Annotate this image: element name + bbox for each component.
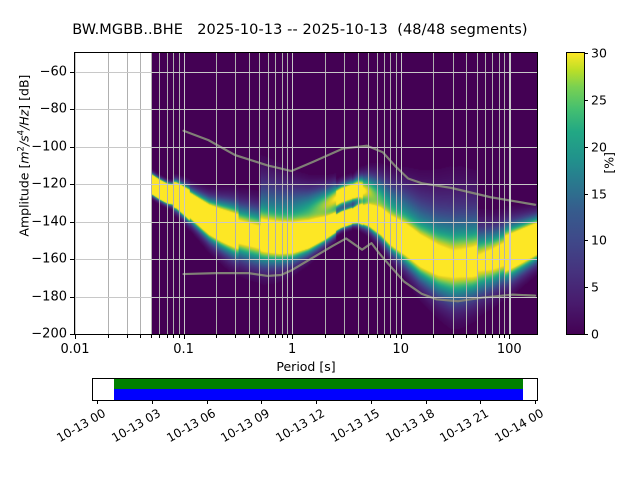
- horizontal-gridline: [75, 109, 537, 110]
- vertical-gridline: [259, 53, 260, 334]
- vertical-gridline: [344, 53, 345, 334]
- y-tick: [70, 109, 75, 110]
- horizontal-gridline: [75, 184, 537, 185]
- vertical-gridline: [504, 53, 505, 334]
- vertical-gridline: [401, 53, 402, 334]
- y-ticklabel: −200: [31, 327, 67, 342]
- vertical-gridline: [396, 53, 397, 334]
- vertical-gridline: [173, 53, 174, 334]
- colorbar-label: [%]: [602, 152, 617, 174]
- vertical-gridline: [184, 53, 185, 334]
- vertical-gridline: [179, 53, 180, 334]
- vertical-gridline: [292, 53, 293, 334]
- y-ticklabel: −180: [31, 289, 67, 304]
- x-tick: [390, 334, 391, 338]
- vertical-gridline: [216, 53, 217, 334]
- timeline-ticklabel: 10-13 18: [383, 406, 437, 445]
- timeline-tick: [207, 400, 208, 404]
- x-tick: [173, 334, 174, 338]
- vertical-gridline: [384, 53, 385, 334]
- x-tick: [179, 334, 180, 338]
- x-tick: [268, 334, 269, 338]
- x-tick: [368, 334, 369, 338]
- colorbar[interactable]: 051015202530: [566, 52, 585, 335]
- x-tick: [396, 334, 397, 338]
- x-tick: [184, 334, 185, 339]
- y-tick: [70, 259, 75, 260]
- x-tick: [499, 334, 500, 338]
- colorbar-tick: [584, 194, 588, 195]
- plot-title: BW.MGBB..BHE 2025-10-13 -- 2025-10-13 (4…: [0, 22, 600, 38]
- vertical-gridline: [282, 53, 283, 334]
- x-tick: [167, 334, 168, 338]
- colorbar-ticklabel: 30: [591, 46, 607, 61]
- colorbar-ticklabel: 10: [591, 233, 607, 248]
- x-tick: [216, 334, 217, 338]
- y-tick: [70, 72, 75, 73]
- colorbar-tick: [584, 100, 588, 101]
- x-tick: [344, 334, 345, 338]
- x-tick: [509, 334, 510, 339]
- x-ticklabel: 100: [497, 342, 522, 357]
- timeline-ticklabel: 10-13 00: [54, 406, 108, 445]
- x-ticklabel: 0.01: [61, 342, 90, 357]
- data-coverage-timeline[interactable]: [92, 378, 538, 401]
- y-ticklabel: −100: [31, 139, 67, 154]
- vertical-gridline: [466, 53, 467, 334]
- x-ticklabel: 10: [392, 342, 409, 357]
- x-ticklabel: 0.1: [173, 342, 194, 357]
- y-ticklabel: −120: [31, 177, 67, 192]
- y-ticklabel: −80: [40, 102, 67, 117]
- vertical-gridline: [151, 53, 152, 334]
- vertical-gridline: [368, 53, 369, 334]
- colorbar-ticklabel: 5: [591, 280, 599, 295]
- x-tick: [358, 334, 359, 338]
- x-tick: [275, 334, 276, 338]
- y-axis-title: Amplitude [m2/s4/Hz] [dB]: [16, 36, 31, 276]
- horizontal-gridline: [75, 222, 537, 223]
- x-tick: [287, 334, 288, 338]
- vertical-gridline: [75, 53, 76, 334]
- x-tick: [127, 334, 128, 338]
- vertical-gridline: [287, 53, 288, 334]
- timeline-ticklabel: 10-14 00: [492, 406, 546, 445]
- x-tick: [504, 334, 505, 338]
- timeline-tick: [535, 400, 536, 404]
- vertical-gridline: [275, 53, 276, 334]
- y-tick: [70, 297, 75, 298]
- vertical-gridline: [433, 53, 434, 334]
- vertical-gridline: [377, 53, 378, 334]
- vertical-gridline: [485, 53, 486, 334]
- x-tick: [259, 334, 260, 338]
- timeline-ticklabel: 10-13 12: [273, 406, 327, 445]
- timeline-tick: [152, 400, 153, 404]
- x-tick: [325, 334, 326, 338]
- axes-inner: [75, 53, 537, 334]
- x-tick: [235, 334, 236, 338]
- timeline-tick: [97, 400, 98, 404]
- ppsd-figure: BW.MGBB..BHE 2025-10-13 -- 2025-10-13 (4…: [0, 0, 640, 480]
- x-tick: [249, 334, 250, 338]
- x-tick: [492, 334, 493, 338]
- coverage-bar-blue: [114, 389, 523, 400]
- vertical-gridline: [390, 53, 391, 334]
- vertical-gridline: [167, 53, 168, 334]
- x-tick: [401, 334, 402, 339]
- x-tick: [151, 334, 152, 338]
- colorbar-tick: [584, 287, 588, 288]
- horizontal-gridline: [75, 147, 537, 148]
- x-tick: [282, 334, 283, 338]
- vertical-gridline: [108, 53, 109, 334]
- vertical-gridline: [453, 53, 454, 334]
- x-tick: [433, 334, 434, 338]
- vertical-gridline: [492, 53, 493, 334]
- y-tick: [70, 222, 75, 223]
- timeline-tick: [480, 400, 481, 404]
- x-ticklabel: 1: [288, 342, 296, 357]
- x-tick: [485, 334, 486, 338]
- timeline-ticklabel: 10-13 15: [328, 406, 382, 445]
- x-axis-title: Period [s]: [74, 359, 538, 374]
- vertical-gridline: [325, 53, 326, 334]
- colorbar-tick: [584, 240, 588, 241]
- colorbar-tick: [584, 53, 588, 54]
- ppsd-axes[interactable]: 0.010.1110100 −60−80−100−120−140−160−180…: [74, 52, 538, 335]
- timeline-ticklabel: 10-13 03: [109, 406, 163, 445]
- y-ticklabel: −60: [40, 64, 67, 79]
- vertical-gridline: [268, 53, 269, 334]
- vertical-gridline: [159, 53, 160, 334]
- vertical-gridline: [127, 53, 128, 334]
- vertical-gridline: [499, 53, 500, 334]
- y-ticklabel: −140: [31, 214, 67, 229]
- x-tick: [159, 334, 160, 338]
- vertical-gridline: [509, 53, 510, 334]
- x-tick: [292, 334, 293, 339]
- vertical-gridline: [477, 53, 478, 334]
- y-tick: [70, 184, 75, 185]
- colorbar-ticklabel: 0: [591, 327, 599, 342]
- x-tick: [453, 334, 454, 338]
- vertical-gridline: [358, 53, 359, 334]
- x-tick: [108, 334, 109, 338]
- x-tick: [466, 334, 467, 338]
- colorbar-tick: [584, 147, 588, 148]
- timeline-tick: [316, 400, 317, 404]
- timeline-tick: [426, 400, 427, 404]
- timeline-ticklabel: 10-13 21: [437, 406, 491, 445]
- timeline-ticklabel: 10-13 09: [218, 406, 272, 445]
- timeline-ticklabel: 10-13 06: [164, 406, 218, 445]
- y-ticklabel: −160: [31, 252, 67, 267]
- colorbar-ticklabel: 25: [591, 92, 607, 107]
- timeline-tick: [371, 400, 372, 404]
- vertical-gridline: [140, 53, 141, 334]
- horizontal-gridline: [75, 297, 537, 298]
- x-tick: [477, 334, 478, 338]
- horizontal-gridline: [75, 259, 537, 260]
- x-tick: [75, 334, 76, 339]
- x-tick: [384, 334, 385, 338]
- coverage-bar-green: [114, 379, 523, 389]
- timeline-tick: [261, 400, 262, 404]
- horizontal-gridline: [75, 72, 537, 73]
- vertical-gridline: [249, 53, 250, 334]
- vertical-gridline: [235, 53, 236, 334]
- colorbar-ticklabel: 15: [591, 186, 607, 201]
- x-tick: [377, 334, 378, 338]
- y-tick: [70, 147, 75, 148]
- colorbar-tick: [584, 334, 588, 335]
- x-tick: [140, 334, 141, 338]
- y-tick: [70, 334, 75, 335]
